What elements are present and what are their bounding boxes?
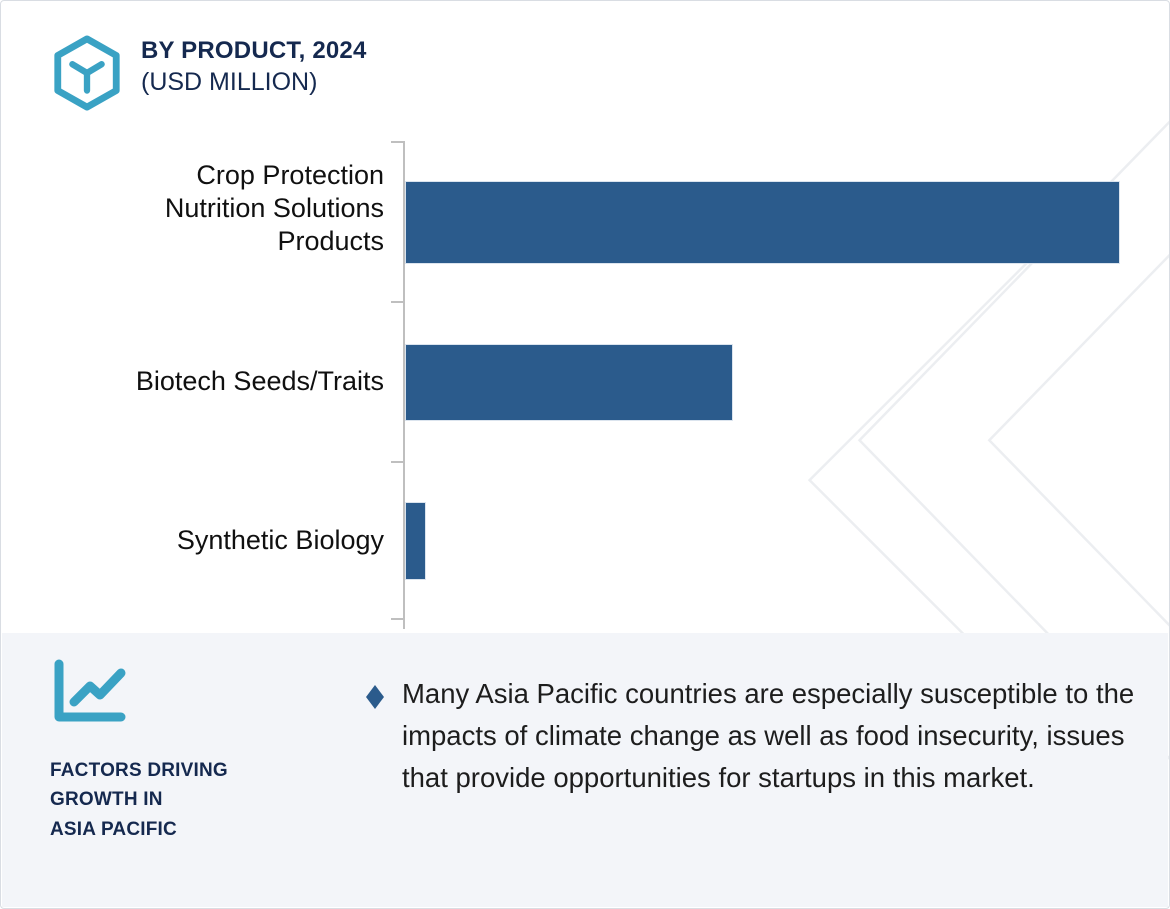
bar-biotech-seeds-traits	[405, 344, 733, 421]
diamond-bullet-icon	[362, 684, 388, 710]
page-title: BY PRODUCT, 2024	[141, 37, 367, 65]
bar-synthetic-biology	[405, 502, 426, 580]
header-text-block: BY PRODUCT, 2024 (USD MILLION)	[141, 33, 367, 97]
hexagon-cube-icon	[51, 35, 123, 111]
footer-panel: FACTORS DRIVING GROWTH IN ASIA PACIFIC M…	[2, 633, 1168, 907]
category-label: Crop Protection Nutrition Solutions Prod…	[165, 159, 384, 258]
page-subtitle: (USD MILLION)	[141, 67, 367, 97]
footer-body-text: Many Asia Pacific countries are especial…	[402, 673, 1138, 798]
category-label: Biotech Seeds/Traits	[136, 365, 384, 398]
header: BY PRODUCT, 2024 (USD MILLION)	[51, 33, 367, 111]
axis-tick	[391, 618, 404, 620]
bar-crop-protection-nutrition-solutions-products	[405, 181, 1120, 264]
infographic-card: BY PRODUCT, 2024 (USD MILLION) Crop Prot…	[0, 0, 1170, 909]
axis-tick	[391, 301, 404, 303]
axis-tick	[391, 141, 404, 143]
axis-tick	[391, 461, 404, 463]
bar-chart: Crop Protection Nutrition Solutions Prod…	[1, 131, 1170, 631]
footer-body-block: Many Asia Pacific countries are especial…	[362, 673, 1138, 798]
footer-left-block: FACTORS DRIVING GROWTH IN ASIA PACIFIC	[50, 658, 350, 844]
line-chart-icon	[50, 658, 128, 728]
footer-heading: FACTORS DRIVING GROWTH IN ASIA PACIFIC	[50, 756, 350, 844]
category-label: Synthetic Biology	[177, 524, 384, 557]
